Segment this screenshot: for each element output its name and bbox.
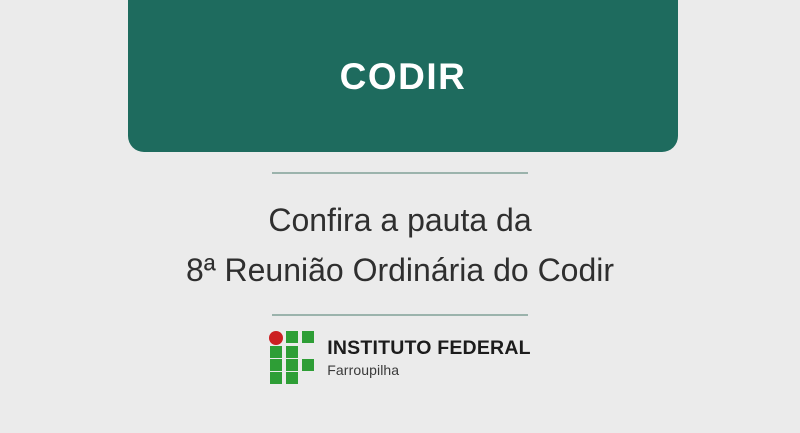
divider-top <box>272 172 528 174</box>
headline-line-2: 8ª Reunião Ordinária do Codir <box>0 246 800 296</box>
instituto-federal-logo: INSTITUTO FEDERAL Farroupilha <box>0 331 800 385</box>
logo-wordmark: INSTITUTO FEDERAL Farroupilha <box>327 339 530 377</box>
divider-bottom <box>272 314 528 316</box>
headline-block: Confira a pauta da 8ª Reunião Ordinária … <box>0 196 800 295</box>
poster-canvas: CODIR Confira a pauta da 8ª Reunião Ordi… <box>0 0 800 433</box>
instituto-federal-mark-icon <box>269 331 316 385</box>
banner-title: CODIR <box>340 58 467 95</box>
header-banner: CODIR <box>128 0 678 152</box>
logo-institution-name: INSTITUTO FEDERAL <box>327 339 530 359</box>
logo-campus-name: Farroupilha <box>327 363 530 377</box>
headline-line-1: Confira a pauta da <box>0 196 800 246</box>
